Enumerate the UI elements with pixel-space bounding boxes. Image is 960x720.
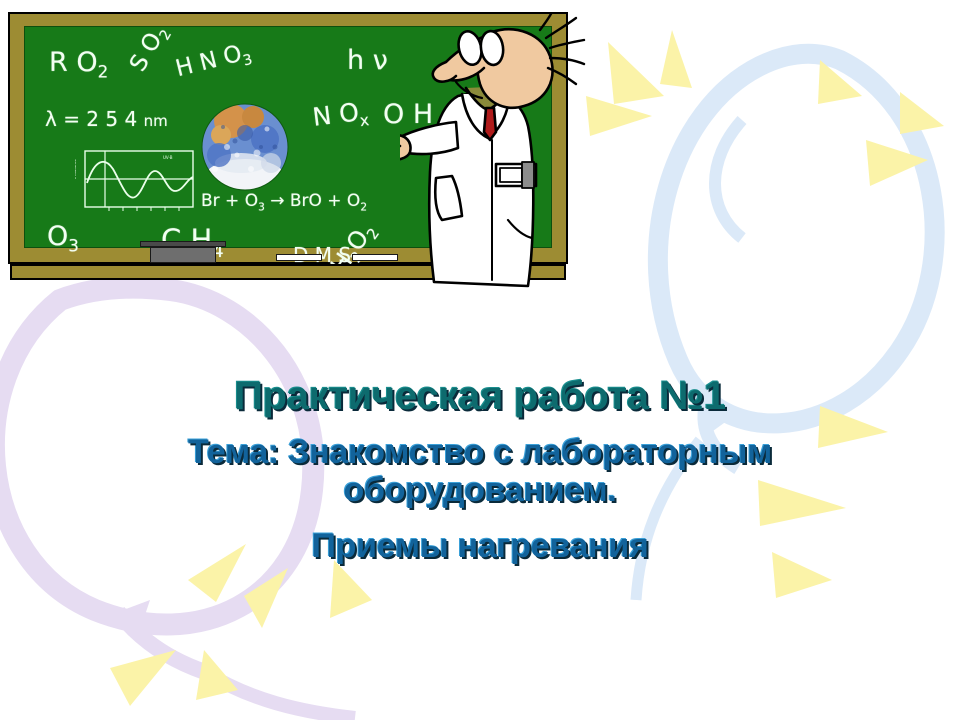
title-line-topic: Тема: Знакомство с лабораторным оборудов… bbox=[0, 433, 960, 509]
title-line-heating-methods: Приемы нагревания bbox=[0, 509, 960, 565]
scientist-teacher-illustration bbox=[400, 14, 600, 294]
chalk-stick-2 bbox=[352, 254, 398, 261]
chalk-formula-nox: N Ox bbox=[311, 96, 370, 136]
chalk-formula-bromine-reaction: Br + O3 → BrO + O2 bbox=[201, 191, 367, 213]
chalk-formula-hv: h ν bbox=[347, 45, 388, 76]
svg-text:Irradiance: Irradiance bbox=[75, 158, 77, 179]
svg-text:UV-B: UV-B bbox=[163, 155, 173, 160]
chalk-wave-graph: Irradiance UV-B bbox=[75, 149, 197, 215]
chalk-formula-lambda: λ = 2 5 4 nm bbox=[45, 107, 168, 131]
title-line-practical-work: Практическая работа №1 bbox=[0, 374, 960, 433]
chalk-formula-o3: O3 bbox=[47, 221, 79, 255]
chalk-eraser bbox=[150, 247, 216, 263]
chalk-stick-1 bbox=[276, 254, 322, 261]
chalk-formula-so2: S O2 bbox=[125, 20, 175, 77]
slide-canvas: R O2 S O2 H N O3 h ν N Ox O H λ = 2 5 4 … bbox=[0, 0, 960, 720]
earth-globe-icon bbox=[201, 103, 289, 191]
chalk-formula-ro2: R O2 bbox=[49, 47, 108, 81]
chalk-formula-hno3: H N O3 bbox=[173, 39, 254, 86]
title-block: Практическая работа №1 Тема: Знакомство … bbox=[0, 374, 960, 565]
